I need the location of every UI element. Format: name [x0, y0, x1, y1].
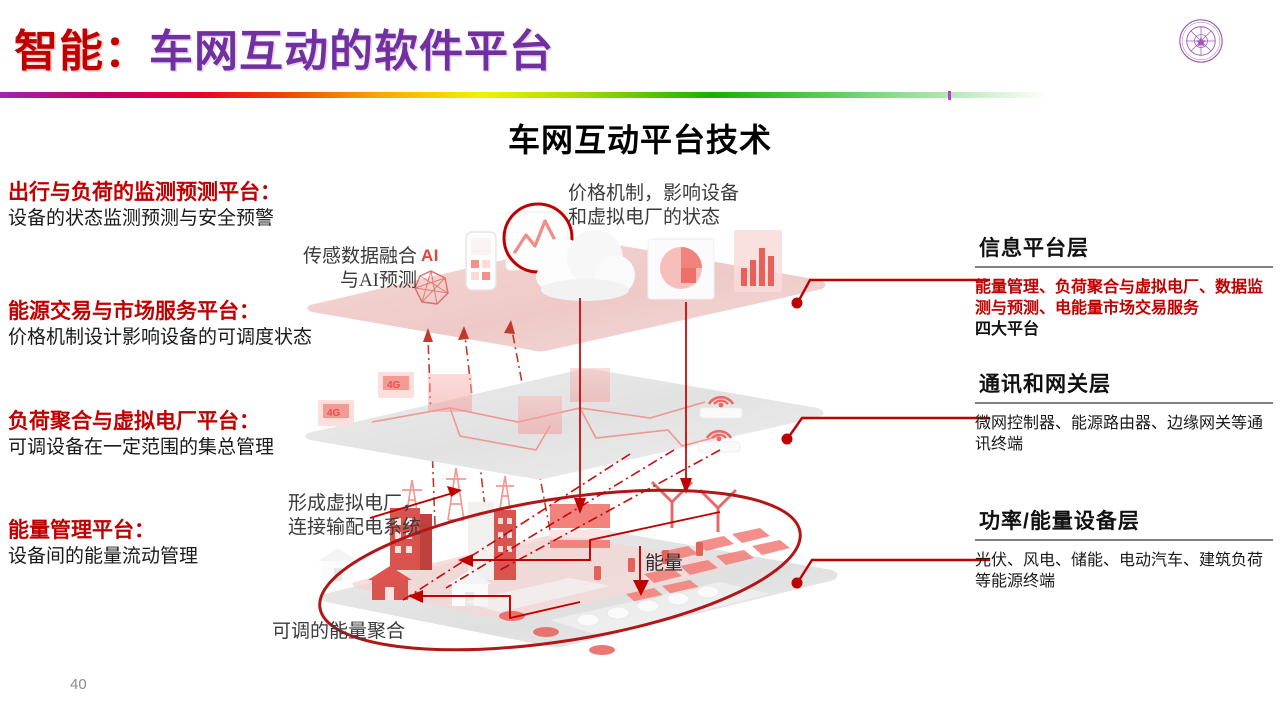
title-purple-part: 车网互动的软件平台 — [149, 27, 554, 76]
callout-sensor-line1: 传感数据融合 — [303, 245, 417, 269]
callout-sensor-fusion: 传感数据融合 与AI预测 — [303, 245, 417, 293]
callout-price-mechanism: 价格机制，影响设备 和虚拟电厂的状态 — [568, 182, 739, 230]
page-number: 40 — [70, 676, 87, 693]
right-panel-2-heading: 通讯和网关层 — [975, 368, 1273, 398]
slide-root: 智能：车网互动的软件平台 车网互动平台技术 出行与负荷的监测预测平台： 设备的状… — [0, 0, 1280, 720]
callout-energy-label: 能量 — [645, 552, 683, 576]
layer-communication-gateway: 4G 4G — [305, 368, 823, 480]
tsinghua-seal-icon — [1178, 18, 1224, 64]
left-block-4-body: 设备间的能量流动管理 — [8, 546, 198, 569]
title-gradient-rule — [0, 92, 1048, 98]
title-rule-end-tick — [948, 91, 951, 100]
left-block-3-heading: 负荷聚合与虚拟电厂平台： — [8, 410, 274, 435]
left-block-monitoring: 出行与负荷的监测预测平台： 设备的状态监测预测与安全预警 — [8, 181, 281, 231]
right-panel-power-layer: 功率/能量设备层 光伏、风电、储能、电动汽车、建筑负荷等能源终端 — [975, 505, 1273, 592]
callout-sensor-line2: 与AI预测 — [303, 269, 417, 293]
right-panel-1-body-red: 能量管理、负荷聚合与虚拟电厂、数据监测与预测、电能量市场交易服务 — [975, 277, 1273, 319]
callout-price-line1: 价格机制，影响设备 — [568, 182, 739, 206]
left-block-energy-management: 能量管理平台： 设备间的能量流动管理 — [8, 519, 198, 569]
left-block-3-body: 可调设备在一定范围的集总管理 — [8, 437, 274, 460]
mobile-device-icon — [466, 232, 496, 290]
page-title: 智能：车网互动的软件平台 — [14, 30, 554, 74]
svg-text:4G: 4G — [327, 408, 341, 419]
left-block-1-body: 设备的状态监测预测与安全预警 — [8, 208, 281, 231]
right-panel-1-heading: 信息平台层 — [975, 232, 1273, 262]
right-panel-3-heading: 功率/能量设备层 — [975, 505, 1273, 535]
callout-vpp-line1: 形成虚拟电厂， — [288, 492, 421, 516]
ai-label: AI — [421, 246, 439, 266]
right-panel-1-body-black: 四大平台 — [975, 321, 1039, 338]
right-panel-1-rule — [975, 266, 1273, 268]
bar-chart-card-icon — [734, 230, 782, 292]
callout-price-line2: 和虚拟电厂的状态 — [568, 206, 739, 230]
left-block-aggregation: 负荷聚合与虚拟电厂平台： 可调设备在一定范围的集总管理 — [8, 410, 274, 460]
layer-leader-lines — [788, 280, 990, 582]
right-panel-2-rule — [975, 402, 1273, 404]
pie-chart-card-icon — [648, 239, 714, 299]
right-panel-3-rule — [975, 539, 1273, 541]
left-block-1-heading: 出行与负荷的监测预测平台： — [8, 181, 281, 206]
right-panel-communication-layer: 通讯和网关层 微网控制器、能源路由器、边缘网关等通讯终端 — [975, 368, 1273, 455]
title-red-part: 智能： — [14, 27, 149, 76]
right-panel-3-body: 光伏、风电、储能、电动汽车、建筑负荷等能源终端 — [975, 550, 1273, 592]
callout-vpp-line2: 连接输配电系统 — [288, 516, 421, 540]
right-panel-information-layer: 信息平台层 能量管理、负荷聚合与虚拟电厂、数据监测与预测、电能量市场交易服务 四… — [975, 232, 1273, 340]
svg-text:4G: 4G — [387, 380, 401, 391]
right-panel-2-body: 微网控制器、能源路由器、边缘网关等通讯终端 — [975, 413, 1273, 455]
callout-adjustable-aggregation: 可调的能量聚合 — [272, 620, 405, 644]
left-block-4-heading: 能量管理平台： — [8, 519, 198, 544]
callout-virtual-power-plant: 形成虚拟电厂， 连接输配电系统 — [288, 492, 421, 540]
